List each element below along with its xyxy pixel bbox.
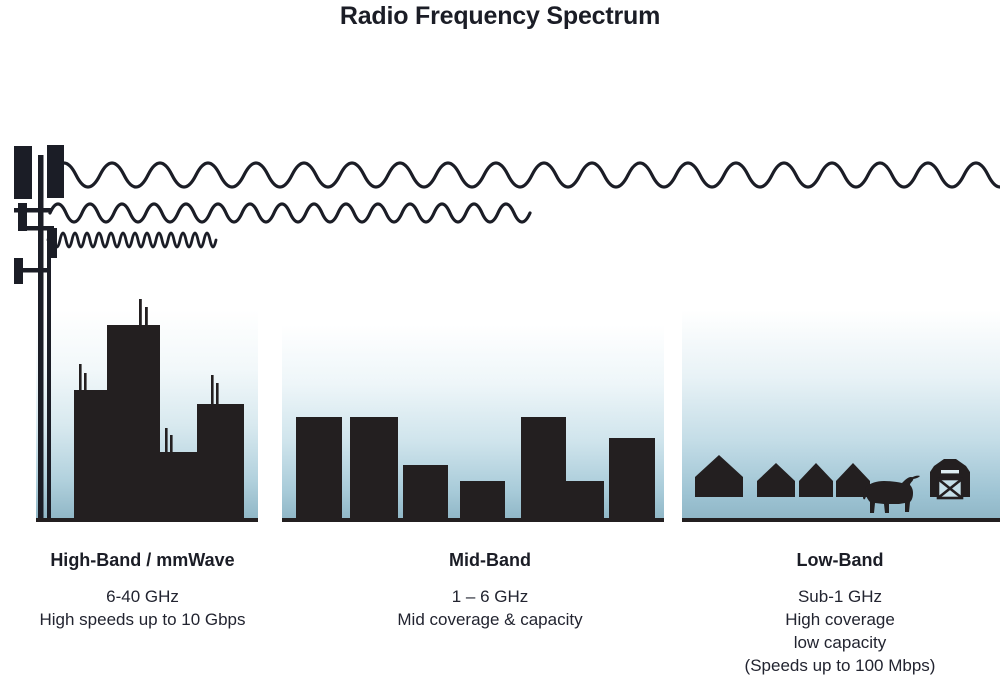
tower-antenna-panel-tier2-right [48, 228, 57, 258]
ground-lines [36, 518, 1000, 522]
band-frequency-low-band: Sub-1 GHz [680, 586, 1000, 609]
band-title-mid-band: Mid-Band [340, 548, 640, 572]
band-detail-low-band-3: (Speeds up to 100 Mbps) [680, 655, 1000, 678]
building-block [160, 452, 197, 520]
ground-line-high-band [36, 518, 258, 522]
tower-mast-secondary [47, 230, 51, 520]
band-title-high-band: High-Band / mmWave [0, 548, 285, 572]
building-spire [145, 307, 148, 327]
ground-line-mid-band [282, 518, 664, 522]
building-spire [211, 375, 214, 405]
band-frequency-mid-band: 1 – 6 GHz [340, 586, 640, 609]
band-frequency-high-band: 6-40 GHz [0, 586, 285, 609]
band-caption-mid-band: Mid-Band 1 – 6 GHz Mid coverage & capaci… [340, 548, 640, 632]
mid-frequency-wave [50, 204, 530, 222]
ground-line-low-band [682, 518, 1000, 522]
building-block [197, 404, 244, 520]
band-title-low-band: Low-Band [680, 548, 1000, 572]
tower-antenna-panel-tier3 [14, 258, 23, 284]
building-block [107, 325, 160, 520]
radio-waves [48, 163, 1000, 247]
tower-antenna-panel-tier2-left [18, 203, 27, 231]
band-detail-mid-band: Mid coverage & capacity [340, 609, 640, 632]
building-spire [139, 299, 142, 325]
tower-antenna-panel-right [47, 145, 64, 198]
building-block [521, 417, 566, 520]
building-block [609, 438, 655, 520]
high-frequency-wave [48, 233, 216, 247]
building-block [460, 481, 505, 520]
tower-antenna-panel-left [14, 146, 32, 199]
building-block [350, 417, 398, 520]
building-spire [216, 383, 219, 407]
building-block [296, 417, 342, 520]
building-block [403, 465, 448, 520]
band-caption-high-band: High-Band / mmWave 6-40 GHz High speeds … [0, 548, 285, 632]
low-frequency-wave [52, 163, 1000, 187]
barn-loft-window [941, 470, 959, 473]
band-caption-low-band: Low-Band Sub-1 GHz High coverage low cap… [680, 548, 1000, 678]
building-block [74, 390, 107, 520]
infographic-root: Radio Frequency Spectrum [0, 0, 1000, 700]
band-detail-high-band: High speeds up to 10 Gbps [0, 609, 285, 632]
building-spire [165, 428, 168, 453]
band-detail-low-band-2: low capacity [680, 632, 1000, 655]
band-detail-low-band-1: High coverage [680, 609, 1000, 632]
building-block [566, 481, 604, 520]
